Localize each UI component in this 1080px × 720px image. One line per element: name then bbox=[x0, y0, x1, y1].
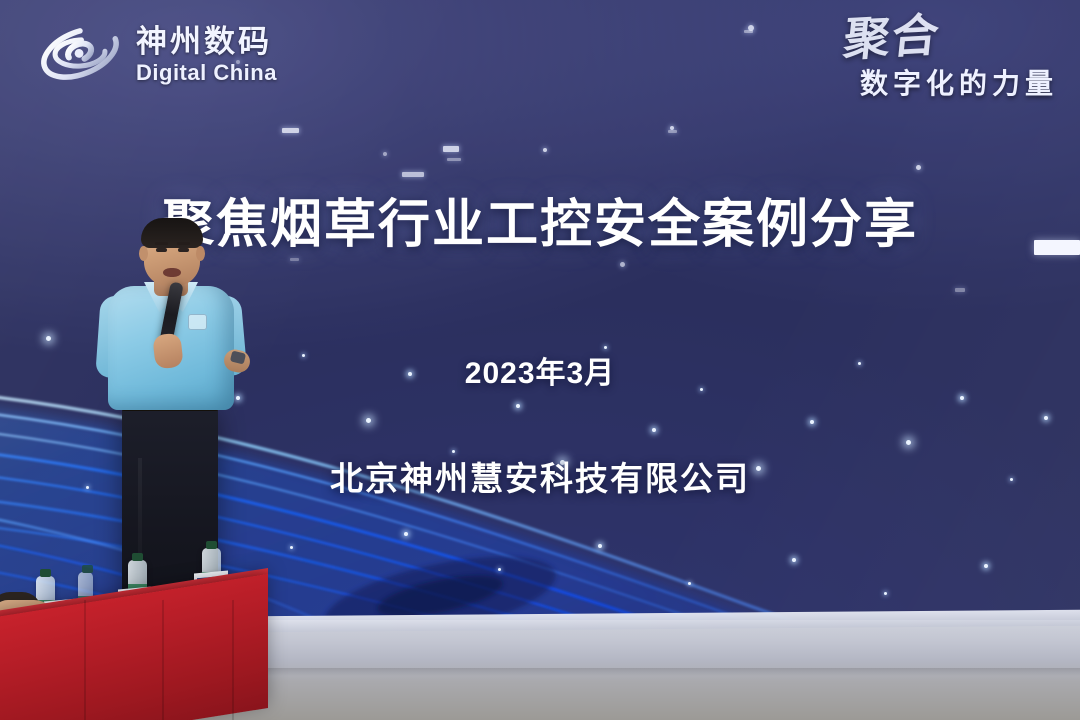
panel-table-fold bbox=[84, 600, 86, 720]
presenter-ear-left bbox=[139, 246, 148, 261]
slogan-calligraphy: 聚合 bbox=[841, 14, 942, 63]
brand-name-en: Digital China bbox=[136, 62, 277, 84]
wall-speck bbox=[916, 165, 921, 170]
wall-speck bbox=[744, 30, 753, 33]
wall-speck bbox=[443, 146, 459, 152]
wall-speck bbox=[282, 128, 299, 133]
wall-edge-marker bbox=[1034, 240, 1080, 255]
presenter-mouth bbox=[163, 268, 181, 277]
panel-table-fold bbox=[162, 600, 164, 720]
brand-text: 神州数码 Digital China bbox=[136, 22, 277, 84]
presenter-eye-left bbox=[156, 248, 167, 252]
slogan-subtitle: 数字化的力量 bbox=[844, 62, 1058, 102]
wall-speck bbox=[402, 172, 424, 177]
wall-speck bbox=[383, 152, 387, 156]
wall-speck bbox=[668, 130, 677, 133]
presenter-hand-left bbox=[152, 333, 183, 370]
presenter-eyebrow-right bbox=[177, 242, 190, 245]
wall-speck bbox=[290, 258, 299, 261]
panel-table-fold bbox=[232, 600, 234, 720]
brand-lockup: 神州数码 Digital China bbox=[38, 18, 277, 88]
presenter-eyebrow-left bbox=[155, 242, 168, 245]
wall-speck bbox=[447, 158, 461, 161]
event-slogan: 聚合 数字化的力量 bbox=[844, 16, 1058, 102]
presenter-ear-right bbox=[196, 246, 205, 261]
wall-speck bbox=[543, 148, 547, 152]
presenter-hair bbox=[141, 218, 203, 248]
presenter-eye-right bbox=[178, 248, 189, 252]
wall-speck bbox=[955, 288, 965, 292]
digital-china-spiral-logo-icon bbox=[38, 18, 122, 88]
wall-speck bbox=[620, 262, 625, 267]
brand-name-cn: 神州数码 bbox=[136, 24, 272, 59]
presenter-chest-logo-icon bbox=[188, 314, 207, 330]
presentation-photo: 神州数码 Digital China 聚合 数字化的力量 聚焦烟草行业工控安全案… bbox=[0, 0, 1080, 720]
